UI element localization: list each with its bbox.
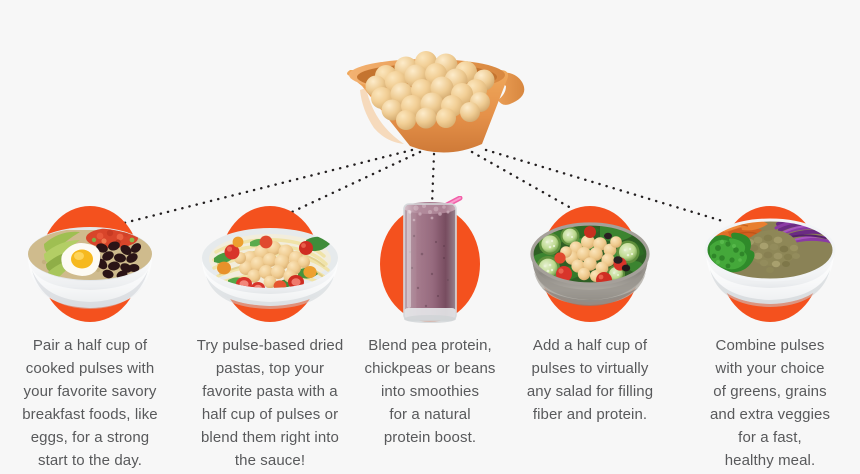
media-salad-bowl xyxy=(504,196,676,328)
chickpea-bowl-illustration xyxy=(330,24,535,164)
grain-bowl-image xyxy=(684,196,856,328)
idea-item-salad-bowl: Add a half cup of pulses to virtually an… xyxy=(504,196,676,474)
pulses-usage-infographic: Pair a half cup of cooked pulses with yo… xyxy=(0,0,860,474)
pulse-ideas-row: Pair a half cup of cooked pulses with yo… xyxy=(0,196,860,474)
media-breakfast-bowl xyxy=(4,196,176,328)
idea-item-breakfast-bowl: Pair a half cup of cooked pulses with yo… xyxy=(4,196,176,474)
media-smoothie xyxy=(344,196,516,328)
caption-salad-bowl: Add a half cup of pulses to virtually an… xyxy=(504,334,676,426)
caption-pasta-bowl: Try pulse-based dried pastas, top your f… xyxy=(184,334,356,472)
idea-item-pasta-bowl: Try pulse-based dried pastas, top your f… xyxy=(184,196,356,474)
smoothie-glass-image xyxy=(344,196,516,328)
media-pasta-bowl xyxy=(184,196,356,328)
caption-smoothie: Blend pea protein, chickpeas or beans in… xyxy=(344,334,516,449)
idea-item-smoothie: Blend pea protein, chickpeas or beans in… xyxy=(344,196,516,474)
salad-bowl-image xyxy=(504,196,676,328)
hero-chickpea-bowl xyxy=(330,24,535,164)
idea-item-grain-bowl: Combine pulses with your choice of green… xyxy=(684,196,856,474)
pasta-bowl-image xyxy=(184,196,356,328)
caption-grain-bowl: Combine pulses with your choice of green… xyxy=(684,334,856,472)
breakfast-bowl-image xyxy=(4,196,176,328)
media-grain-bowl xyxy=(684,196,856,328)
caption-breakfast-bowl: Pair a half cup of cooked pulses with yo… xyxy=(4,334,176,472)
